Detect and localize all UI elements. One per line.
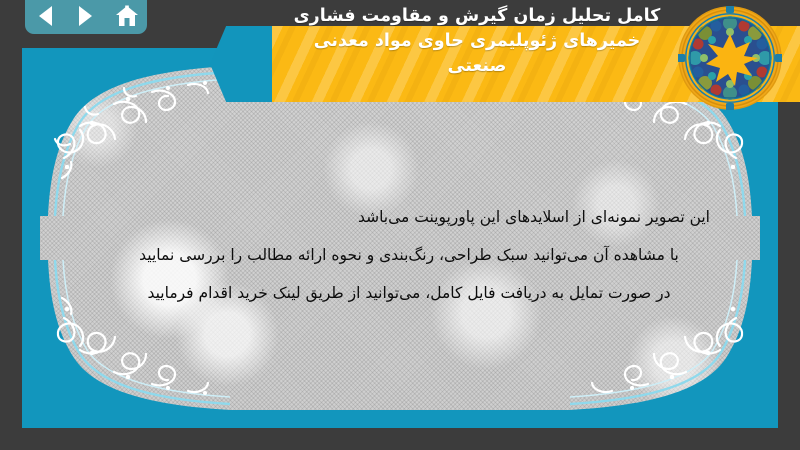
title-line-3: صنعتی (250, 54, 704, 79)
triangle-left-icon (39, 6, 52, 26)
title-line-2: خمیرهای ژئوپلیمری حاوی مواد معدنی (250, 29, 704, 54)
corner-ornament-top-left (40, 66, 230, 216)
persian-medallion-ornament (678, 6, 782, 110)
body-line-1: این تصویر نمونه‌ای از اسلایدهای این پاور… (100, 198, 718, 236)
title-line-1: کامل تحلیل زمان گیرش و مقاومت فشاری (250, 4, 704, 29)
forward-button[interactable] (71, 3, 101, 29)
body-line-2: با مشاهده آن می‌توانید سبک طراحی، رنگ‌بن… (100, 236, 718, 274)
navigation-toolbar (25, 0, 147, 34)
home-button[interactable] (112, 3, 142, 29)
body-line-3: در صورت تمایل به دریافت فایل کامل، می‌تو… (100, 274, 718, 312)
home-icon (115, 5, 139, 27)
back-button[interactable] (30, 3, 60, 29)
triangle-right-icon (79, 6, 92, 26)
slide-content-panel: این تصویر نمونه‌ای از اسلایدهای این پاور… (40, 66, 760, 410)
slide-body-text: این تصویر نمونه‌ای از اسلایدهای این پاور… (100, 198, 718, 312)
slide-viewer: این تصویر نمونه‌ای از اسلایدهای این پاور… (0, 0, 800, 450)
slide-frame: این تصویر نمونه‌ای از اسلایدهای این پاور… (22, 48, 778, 428)
